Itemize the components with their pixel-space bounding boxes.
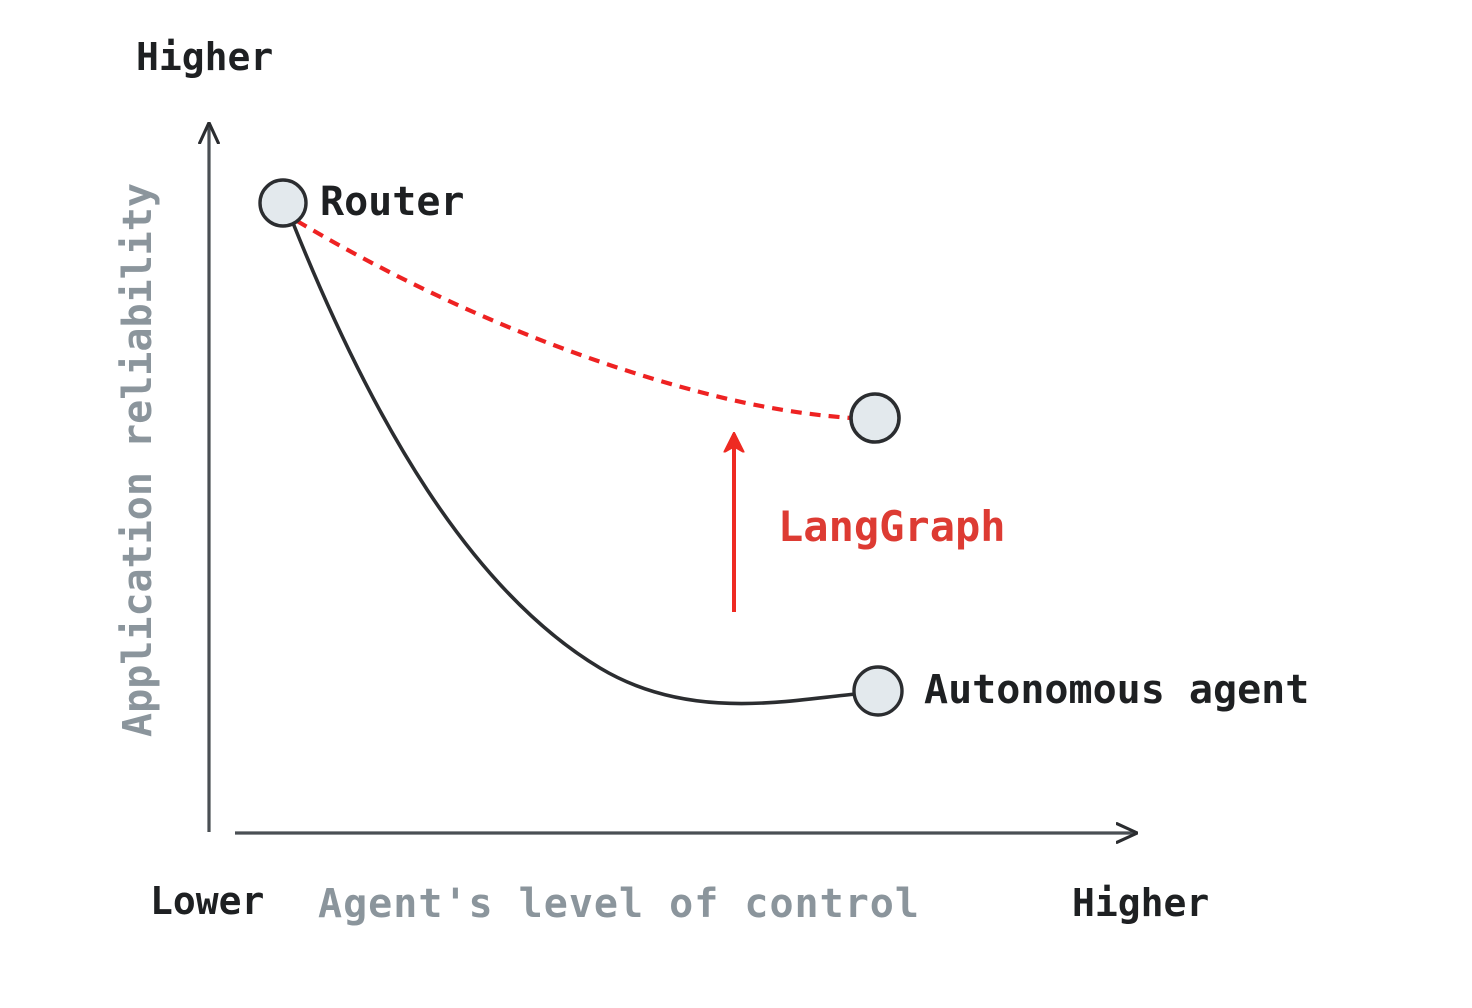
y-axis-high-label: Higher — [136, 38, 273, 76]
x-axis-high-label: Higher — [1072, 884, 1209, 922]
y-axis-title: Application reliability — [118, 110, 158, 810]
node-autonomous-agent[interactable] — [854, 667, 902, 715]
node-label-router: Router — [320, 182, 465, 222]
annotation-label-langgraph: LangGraph — [778, 506, 1006, 548]
node-router[interactable] — [260, 180, 306, 226]
node-langgraph-endpoint[interactable] — [851, 394, 899, 442]
chart-canvas: Higher Application reliability Lower Age… — [0, 0, 1472, 1008]
node-label-autonomous-agent: Autonomous agent — [924, 670, 1309, 710]
x-axis-low-label: Lower — [150, 882, 264, 920]
x-axis-title: Agent's level of control — [318, 884, 920, 924]
chart-graphics — [0, 0, 1472, 1008]
series-baseline-curve — [293, 223, 856, 704]
series-langgraph-curve — [297, 221, 851, 418]
